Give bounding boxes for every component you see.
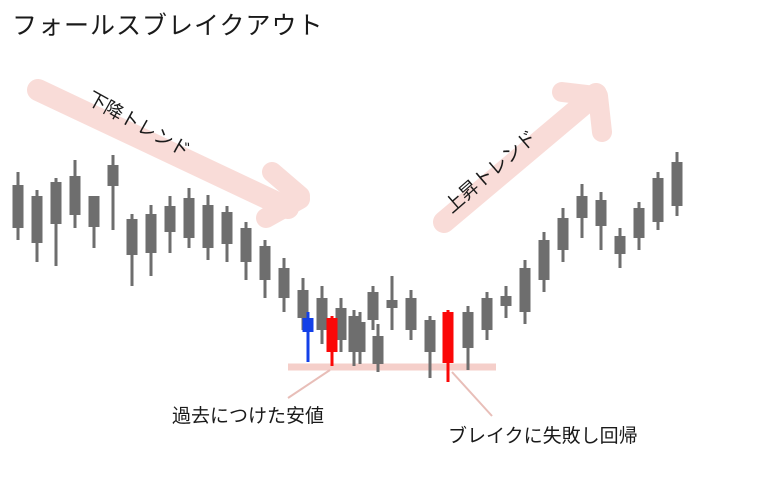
candle-35 <box>596 192 607 250</box>
candle-8 <box>165 196 176 253</box>
candle-39 <box>672 152 683 216</box>
chart-canvas: フォールスブレイクアウト 下降トレンド 上昇トレンド 過去につけた安値 ブレイク… <box>0 0 768 499</box>
previous-low-label: 過去につけた安値 <box>172 401 324 428</box>
candle-body <box>672 162 683 206</box>
candle-body <box>146 214 157 253</box>
candle-body <box>89 196 100 227</box>
candle-13 <box>260 240 271 298</box>
candle-body <box>317 298 328 330</box>
candle-body <box>108 165 119 186</box>
candle-32 <box>539 232 550 292</box>
candle-38 <box>653 172 664 230</box>
candle-body <box>482 298 493 330</box>
candle-10 <box>203 195 214 260</box>
candle-body <box>463 312 474 348</box>
candle-body <box>558 218 569 250</box>
candle-body <box>51 182 62 224</box>
candle-6 <box>127 214 138 286</box>
candle-body <box>368 292 379 320</box>
candle-2 <box>51 178 62 266</box>
leader-line-failed-break <box>452 372 492 416</box>
candle-body <box>615 236 626 254</box>
candle-body <box>222 212 233 244</box>
candle-27 <box>443 310 454 382</box>
candle-0 <box>13 172 24 240</box>
candle-21 <box>327 316 338 366</box>
candle-body <box>596 200 607 226</box>
candle-body <box>520 268 531 312</box>
candle-body <box>349 316 360 352</box>
candle-11 <box>222 206 233 262</box>
candle-body <box>443 312 454 363</box>
candle-23 <box>368 286 379 330</box>
candle-28 <box>463 306 474 370</box>
candle-body <box>32 196 43 243</box>
candle-body <box>241 228 252 262</box>
candle-body <box>203 205 214 248</box>
candle-body <box>406 298 417 330</box>
candle-7 <box>146 205 157 276</box>
candle-body <box>653 178 664 222</box>
candle-25 <box>406 290 417 340</box>
candle-body <box>184 198 195 238</box>
candle-22 <box>349 310 360 366</box>
candle-4 <box>89 196 100 248</box>
candle-12 <box>241 222 252 280</box>
candle-14 <box>279 258 290 312</box>
failed-break-label: ブレイクに失敗し回帰 <box>448 421 638 448</box>
candle-body <box>425 320 436 352</box>
candle-31 <box>520 260 531 324</box>
candle-9 <box>184 188 195 248</box>
candle-16 <box>317 286 328 344</box>
candle-body <box>303 318 314 332</box>
candle-body <box>13 185 24 228</box>
candle-3 <box>70 160 81 228</box>
candle-29 <box>482 292 493 340</box>
candle-33 <box>558 208 569 262</box>
candle-body <box>539 240 550 280</box>
candle-body <box>260 246 271 280</box>
candle-body <box>279 268 290 298</box>
candle-body <box>70 176 81 215</box>
candle-body <box>501 296 512 306</box>
candle-37 <box>634 202 645 250</box>
candle-body <box>634 208 645 238</box>
candle-body <box>387 300 398 308</box>
candle-1 <box>32 190 43 262</box>
candle-body <box>327 318 338 352</box>
candle-30 <box>501 286 512 318</box>
candle-body <box>373 336 384 364</box>
candle-24 <box>387 276 398 330</box>
candle-5 <box>108 155 119 230</box>
candle-34 <box>577 184 588 238</box>
candle-body <box>577 196 588 218</box>
candle-body <box>127 219 138 255</box>
candle-20 <box>303 312 314 362</box>
candle-body <box>165 206 176 232</box>
candlestick-series <box>0 0 768 499</box>
candle-36 <box>615 228 626 268</box>
leader-line-previous-low <box>288 370 330 398</box>
